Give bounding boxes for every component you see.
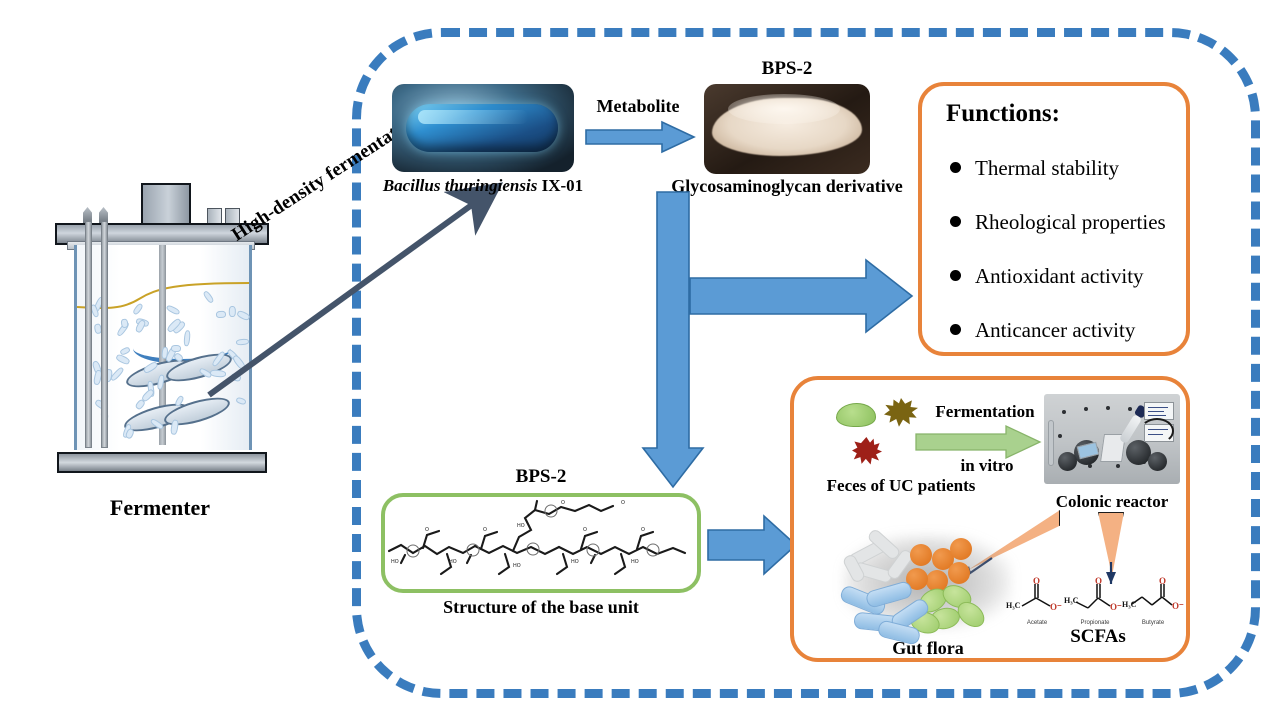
scfa-formula-oxygen: O <box>1159 576 1166 586</box>
bacterium-highlight <box>418 110 528 124</box>
reactor-stand <box>1048 420 1054 466</box>
svg-text:O: O <box>425 527 429 533</box>
bullet-icon <box>950 324 961 335</box>
scfas-label: SCFAs <box>1018 626 1178 648</box>
function-item-anticancer-activity: Anticancer activity <box>950 318 1135 343</box>
metabolite-label: Metabolite <box>576 96 700 117</box>
bullet-icon <box>950 162 961 173</box>
svg-text:HO: HO <box>449 559 457 565</box>
fermentation-label-line1: Fermentation <box>920 402 1050 422</box>
bps2-to-functions-arrow <box>688 258 914 334</box>
bps2-photo-title: BPS-2 <box>704 58 870 80</box>
bullet-icon <box>950 270 961 281</box>
bacteria-species-italic: Bacillus thuringiensis <box>383 176 537 195</box>
functions-panel: Functions: Thermal stability Rheological… <box>918 82 1190 356</box>
scfa-formula-anion: O⁻ <box>1110 602 1122 613</box>
bacillus-thuringiensis-image <box>392 84 574 172</box>
polysaccharide-structure-drawing: HOHOHO HOHOHO OOOO OO <box>385 497 697 589</box>
metabolite-arrow <box>584 120 696 154</box>
feces-label: Feces of UC patients <box>806 476 996 496</box>
structure-title: BPS-2 <box>381 466 701 488</box>
bullet-icon <box>950 216 961 227</box>
polysaccharide-fluff-highlight <box>728 94 840 124</box>
structure-panel: HOHOHO HOHOHO OOOO OO <box>381 493 701 593</box>
colonic-reactor-image <box>1044 394 1180 484</box>
fermentation-in-vitro-arrow <box>914 424 1042 460</box>
fermenter-probe <box>101 221 108 448</box>
function-item-thermal-stability: Thermal stability <box>950 156 1119 181</box>
bacteria-strain: IX-01 <box>537 176 583 195</box>
function-label: Anticancer activity <box>975 318 1135 342</box>
reactor-drum-icon <box>1058 452 1077 471</box>
scfa-formula-left: H₃C <box>1064 596 1078 605</box>
microbe-icon <box>170 420 179 436</box>
reactor-drum-icon <box>1148 452 1167 471</box>
bps2-to-structure-arrow <box>640 190 706 490</box>
scfa-formula-left: H₃C <box>1006 601 1020 610</box>
gut-flora-illustration <box>832 528 1022 638</box>
structure-to-gut-arrow <box>706 514 798 576</box>
svg-text:O: O <box>641 527 645 533</box>
svg-text:HO: HO <box>517 523 525 529</box>
functions-title: Functions: <box>946 100 1060 128</box>
svg-text:HO: HO <box>391 559 399 565</box>
scfa-formula-oxygen: O <box>1095 576 1102 586</box>
gut-flora-label: Gut flora <box>838 638 1018 659</box>
glycosaminoglycan-sample-image <box>704 84 870 174</box>
fermenter-probe <box>85 221 92 448</box>
function-label: Thermal stability <box>975 156 1119 180</box>
colonic-reactor-label: Colonic reactor <box>1038 492 1186 512</box>
svg-text:HO: HO <box>571 559 579 565</box>
fermenter-base <box>57 452 267 473</box>
feces-green-icon <box>836 403 876 427</box>
reactor-cable <box>1140 418 1174 444</box>
function-item-antioxidant-activity: Antioxidant activity <box>950 264 1144 289</box>
svg-text:HO: HO <box>513 563 521 569</box>
svg-text:O: O <box>483 527 487 533</box>
scfa-acetate: H₃C O O⁻ Acetate <box>1006 576 1068 624</box>
svg-text:O: O <box>583 527 587 533</box>
function-label: Rheological properties <box>975 210 1166 234</box>
scfa-formula-left: H₃C <box>1122 600 1136 609</box>
svg-text:O: O <box>561 500 565 506</box>
scfa-formula-oxygen: O <box>1033 576 1040 586</box>
scfa-formula-anion: O⁻ <box>1050 602 1062 613</box>
svg-text:HO: HO <box>631 559 639 565</box>
svg-text:O: O <box>621 500 625 506</box>
scfa-butyrate: H₃C O O⁻ Butyrate <box>1122 576 1184 624</box>
microbe-icon <box>115 353 131 365</box>
fermentation-label-line2: in vitro <box>932 456 1042 476</box>
scfa-propionate: H₃C O O⁻ Propionate <box>1064 576 1126 624</box>
structure-caption: Structure of the base unit <box>381 597 701 618</box>
function-item-rheological-properties: Rheological properties <box>950 210 1166 235</box>
bacteria-caption: Bacillus thuringiensis IX-01 <box>360 176 606 196</box>
scfa-formula-anion: O⁻ <box>1172 601 1184 612</box>
fermenter-label: Fermenter <box>60 495 260 521</box>
function-label: Antioxidant activity <box>975 264 1144 288</box>
